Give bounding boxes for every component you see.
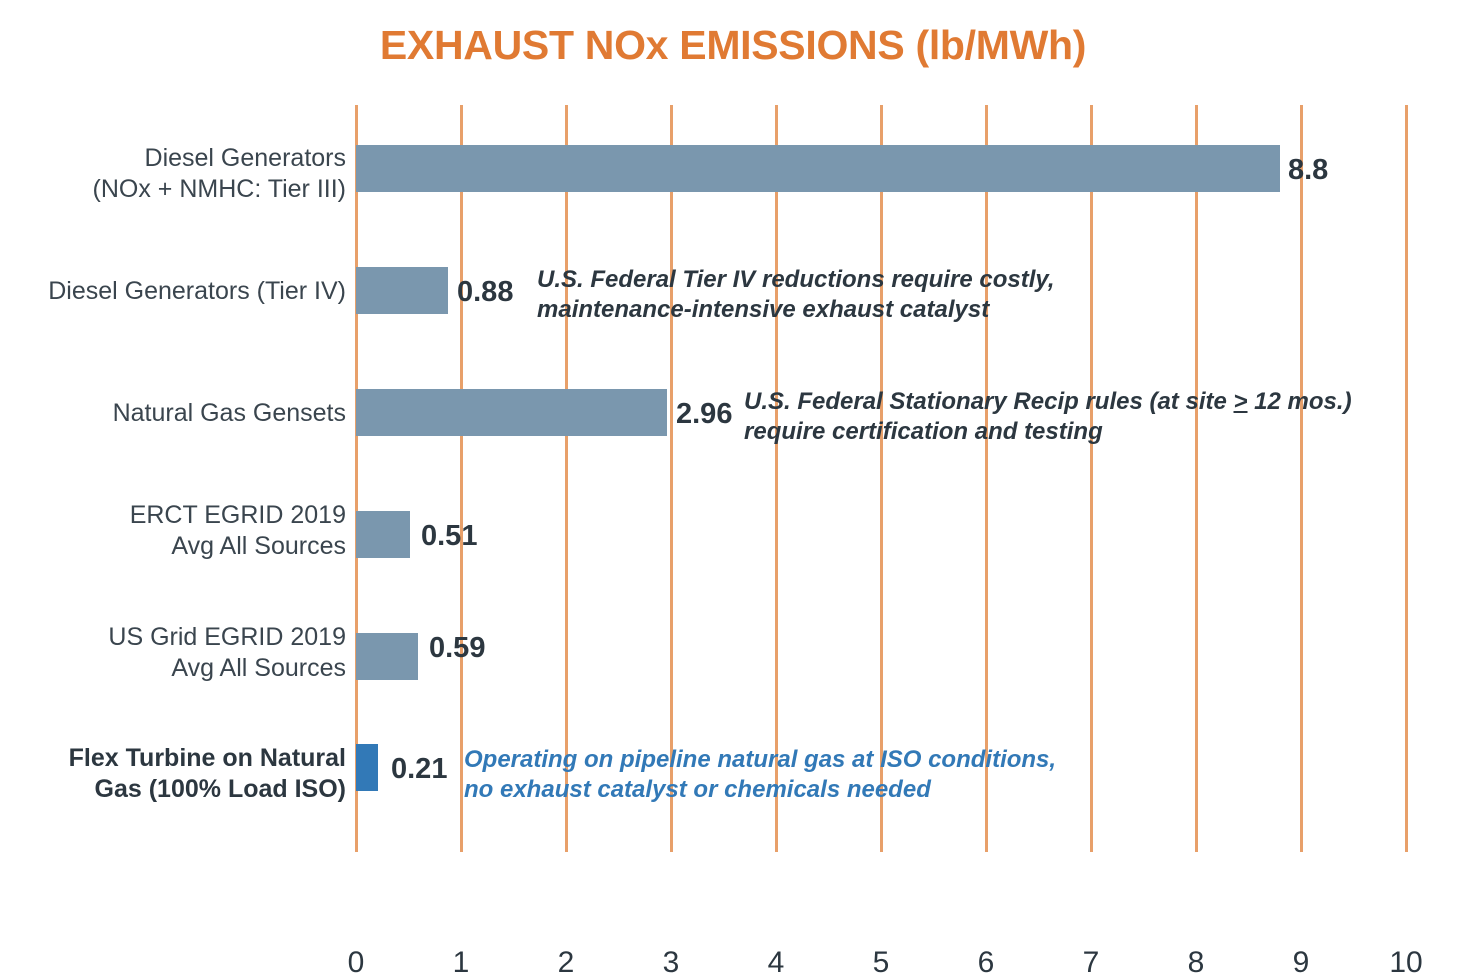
gridline-5: [880, 105, 883, 840]
bar-flex-turbine: [356, 744, 378, 791]
bar-value-diesel-tier-iii: 8.8: [1288, 154, 1328, 187]
x-tick-label-10: 10: [1366, 946, 1446, 980]
tick-mark-9: [1300, 840, 1303, 852]
gridline-0: [355, 105, 358, 840]
annotation-flex-turbine-line2: no exhaust catalyst or chemicals needed: [464, 776, 931, 803]
annotation-diesel-tier-iv-line1: U.S. Federal Tier IV reductions require …: [537, 266, 1055, 293]
annotation-flex-turbine: Operating on pipeline natural gas at ISO…: [464, 745, 1056, 805]
gridline-7: [1090, 105, 1093, 840]
bar-value-us-grid-egrid: 0.59: [429, 632, 485, 665]
x-tick-label-4: 4: [736, 946, 816, 980]
annotation-diesel-tier-iv: U.S. Federal Tier IV reductions require …: [537, 265, 1055, 325]
bar-natural-gas-gensets: [356, 389, 667, 436]
category-label-diesel-tier-iv: Diesel Generators (Tier IV): [0, 276, 346, 307]
bar-value-flex-turbine: 0.21: [391, 753, 447, 786]
tick-mark-1: [460, 840, 463, 852]
annotation-natural-gas-gensets-line2: require certification and testing: [744, 418, 1103, 445]
chart-title: EXHAUST NOx EMISSIONS (lb/MWh): [0, 22, 1466, 69]
bar-value-natural-gas-gensets: 2.96: [676, 398, 732, 431]
tick-mark-3: [670, 840, 673, 852]
bar-erct-egrid: [356, 511, 410, 558]
x-tick-label-2: 2: [526, 946, 606, 980]
category-label-erct-egrid: ERCT EGRID 2019 Avg All Sources: [0, 500, 346, 561]
x-tick-label-5: 5: [841, 946, 921, 980]
tick-mark-10: [1405, 840, 1408, 852]
tick-mark-8: [1195, 840, 1198, 852]
category-label-diesel-tier-iii: Diesel Generators (NOx + NMHC: Tier III): [0, 143, 346, 204]
gridline-3: [670, 105, 673, 840]
x-tick-label-9: 9: [1261, 946, 1341, 980]
tick-mark-7: [1090, 840, 1093, 852]
annotation-natural-gas-gensets-line1-post: 12 mos.): [1248, 388, 1352, 415]
gridline-6: [985, 105, 988, 840]
annotation-natural-gas-gensets: U.S. Federal Stationary Recip rules (at …: [744, 387, 1352, 447]
category-label-us-grid-egrid: US Grid EGRID 2019 Avg All Sources: [0, 622, 346, 683]
bar-value-erct-egrid: 0.51: [421, 520, 477, 553]
gridline-4: [775, 105, 778, 840]
x-tick-label-0: 0: [316, 946, 396, 980]
x-tick-label-3: 3: [631, 946, 711, 980]
category-label-flex-turbine: Flex Turbine on Natural Gas (100% Load I…: [0, 743, 346, 804]
tick-mark-0: [355, 840, 358, 852]
gridline-1: [460, 105, 463, 840]
x-tick-label-6: 6: [946, 946, 1026, 980]
chart-container: EXHAUST NOx EMISSIONS (lb/MWh) 0 1 2 3 4…: [0, 0, 1466, 914]
gridline-10: [1405, 105, 1408, 840]
annotation-diesel-tier-iv-line2: maintenance-intensive exhaust catalyst: [537, 296, 989, 323]
tick-mark-6: [985, 840, 988, 852]
gridline-2: [565, 105, 568, 840]
tick-mark-5: [880, 840, 883, 852]
annotation-natural-gas-gensets-line1-underline: >: [1234, 388, 1248, 415]
annotation-flex-turbine-line1: Operating on pipeline natural gas at ISO…: [464, 746, 1056, 773]
gridline-8: [1195, 105, 1198, 840]
gridline-9: [1300, 105, 1303, 840]
bar-us-grid-egrid: [356, 633, 418, 680]
bar-diesel-tier-iii: [356, 145, 1280, 192]
bar-value-diesel-tier-iv: 0.88: [457, 276, 513, 309]
tick-mark-4: [775, 840, 778, 852]
annotation-natural-gas-gensets-line1-pre: U.S. Federal Stationary Recip rules (at …: [744, 388, 1234, 415]
category-label-natural-gas-gensets: Natural Gas Gensets: [0, 398, 346, 429]
bar-diesel-tier-iv: [356, 267, 448, 314]
x-tick-label-7: 7: [1051, 946, 1131, 980]
plot-area: 0 1 2 3 4 5 6 7 8 9 10: [356, 105, 1406, 840]
tick-mark-2: [565, 840, 568, 852]
x-tick-label-1: 1: [421, 946, 501, 980]
x-tick-label-8: 8: [1156, 946, 1236, 980]
